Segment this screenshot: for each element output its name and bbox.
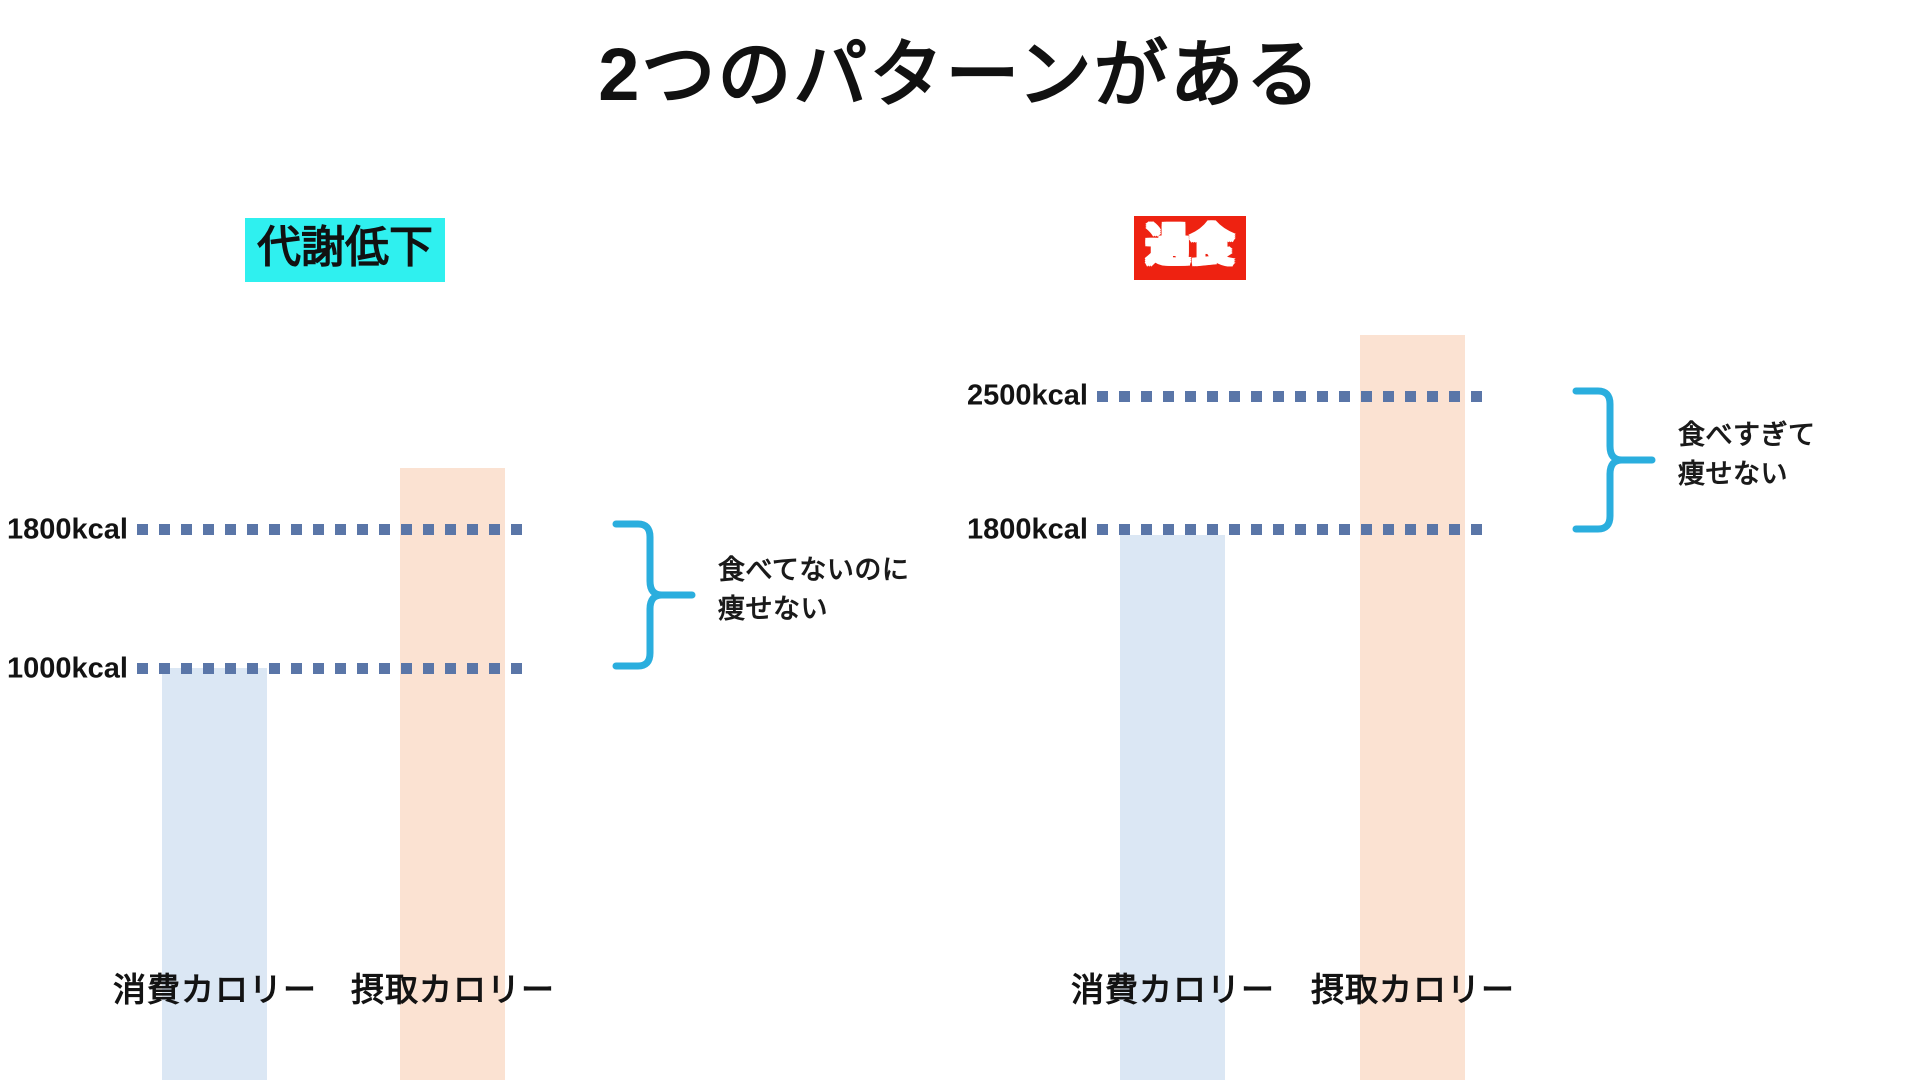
annotation-metabolic-decline: 食べてないのに 痩せない <box>718 551 909 629</box>
axis-label-1800kcal: 1800kcal <box>0 514 128 547</box>
chart-overeating: 2500kcal 1800kcal 食べすぎて 痩せない 消費カロリー 摂取カロ… <box>960 0 1920 1080</box>
bar-expenditure <box>162 668 267 1080</box>
refline-2500 <box>1097 391 1487 402</box>
annotation-line-1: 食べてないのに <box>718 551 909 590</box>
panel-metabolic-decline: 代謝低下 1800kcal 1000kcal 食べてないのに 痩せない <box>0 0 960 1080</box>
category-label-expenditure: 消費カロリー <box>113 963 317 1011</box>
annotation-line-2: 痩せない <box>1678 455 1816 494</box>
annotation-overeating: 食べすぎて 痩せない <box>1678 416 1816 494</box>
slide-canvas: 2つのパターンがある 代謝低下 1800kcal 1000kcal <box>0 0 1920 1080</box>
annotation-line-1: 食べすぎて <box>1678 416 1816 455</box>
refline-1800 <box>1097 524 1487 535</box>
chart-metabolic-decline: 1800kcal 1000kcal 食べてないのに 痩せない 消費カロリー 摂取… <box>0 0 960 1080</box>
refline-1000 <box>137 663 527 674</box>
axis-label-1800kcal: 1800kcal <box>950 514 1088 547</box>
category-label-expenditure: 消費カロリー <box>1071 963 1275 1011</box>
brace-bracket-left <box>612 519 696 671</box>
category-label-intake: 摂取カロリー <box>351 963 555 1011</box>
brace-bracket-right <box>1572 386 1656 534</box>
panel-overeating: 過食 2500kcal 1800kcal 食べすぎて 痩せない <box>960 0 1920 1080</box>
refline-1800 <box>137 524 527 535</box>
axis-label-1000kcal: 1000kcal <box>0 653 128 686</box>
axis-label-2500kcal: 2500kcal <box>950 380 1088 413</box>
annotation-line-2: 痩せない <box>718 590 909 629</box>
category-label-intake: 摂取カロリー <box>1311 963 1515 1011</box>
